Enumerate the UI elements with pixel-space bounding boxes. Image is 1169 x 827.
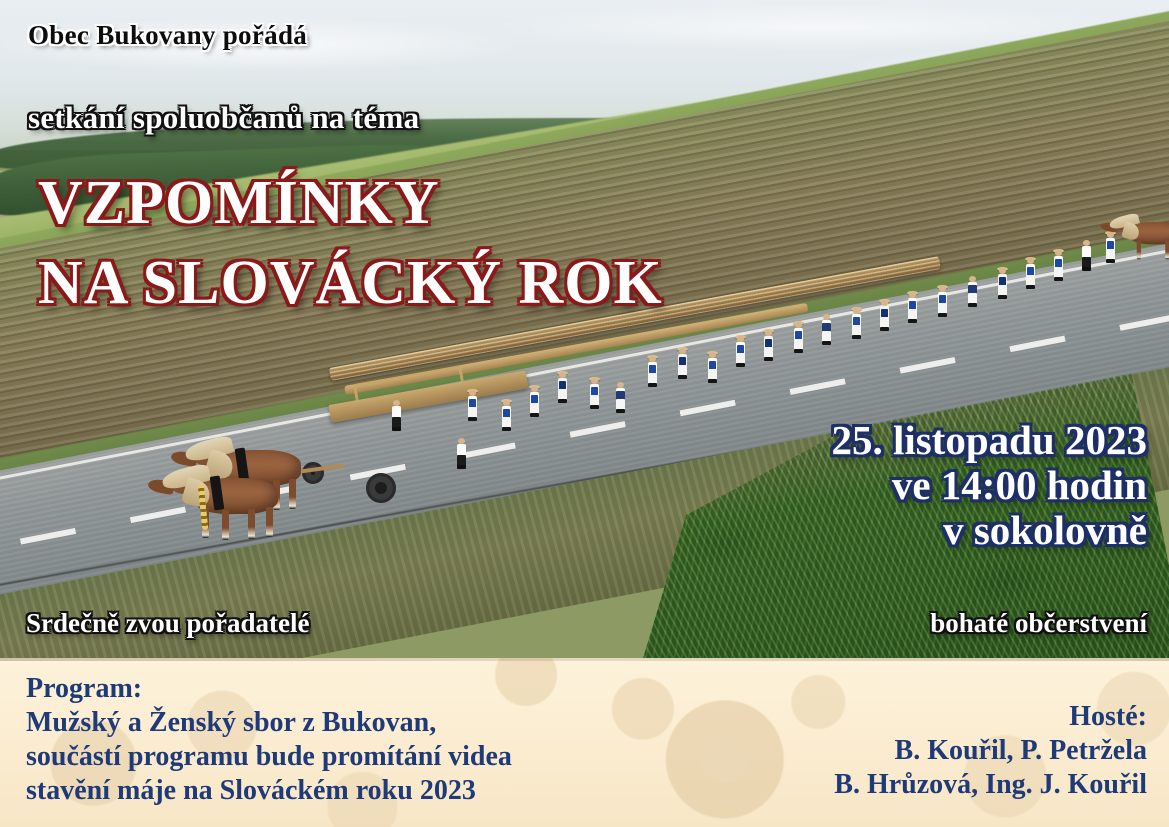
procession-walker [734,336,747,366]
event-venue: v sokolovně [831,508,1147,553]
main-title-line-2: NA SLOVÁCKÝ ROK [38,248,663,319]
horse-leg [1137,241,1141,260]
procession-walker [966,276,979,306]
guests-heading: Hosté: [834,700,1147,734]
procession-walker [850,308,863,338]
procession-walker [1024,258,1037,288]
procession-walker [1052,250,1065,280]
walker-boots [457,465,466,469]
procession-walker [706,352,719,382]
procession-walker [762,330,775,360]
walker-boots [938,313,947,317]
horse-leg [289,479,296,509]
walker-boots [880,327,889,331]
footer-refreshments: bohaté občerstvení [930,608,1147,639]
procession-walker [528,386,541,416]
info-panel: Program: Mužský a Ženský sbor z Bukovan,… [0,658,1169,827]
walker-boots [678,375,687,379]
background-photograph: Obec Bukovany pořádá setkání spoluobčanů… [0,0,1169,658]
walker-boots [502,427,511,431]
footer-invitation: Srdečně zvou pořadatelé [26,608,309,639]
procession-walker [792,322,805,352]
walker-boots [822,341,831,345]
procession-walker [906,292,919,322]
panel-top-divider [0,658,1169,661]
subtitle-headline: setkání spoluobčanů na téma [28,100,419,136]
main-title-line-1: VZPOMÍNKY [38,168,440,239]
event-details-block: 25. listopadu 2023 ve 14:00 hodin v soko… [831,418,1147,553]
horse-leg [222,510,229,540]
event-time: ve 14:00 hodin [831,463,1147,508]
program-block: Program: Mužský a Ženský sbor z Bukovan,… [26,672,512,809]
procession-walker [1080,240,1093,270]
walker-boots [1026,285,1035,289]
walker-boots [392,427,401,431]
procession-walker [1104,232,1117,262]
organizer-headline: Obec Bukovany pořádá [28,20,307,51]
walker-boots [616,409,625,413]
walker-boots [468,417,477,421]
program-line-3: stavění máje na Slováckém roku 2023 [26,774,512,808]
program-line-2: součástí programu bude promítání videa [26,740,512,774]
walker-boots [998,295,1007,299]
procession-walker [820,314,833,344]
procession-walker [500,400,513,430]
procession-walker [556,372,569,402]
procession-walker [878,300,891,330]
procession-walker [646,356,659,386]
walker-boots [968,303,977,307]
procession-walker [588,378,601,408]
walker-boots [558,399,567,403]
walker-boots [530,413,539,417]
cart-wheel-rear [366,473,396,503]
procession-walker [996,268,1009,298]
guests-line-2: B. Hrůzová, Ing. J. Kouřil [834,768,1147,802]
walker-boots [1106,259,1115,263]
walker-boots [648,383,657,387]
cart-wheel-front [302,462,324,484]
walker-boots [852,335,861,339]
procession-walker [455,438,468,468]
procession-walker [676,348,689,378]
guests-block: Hosté: B. Kouřil, P. Petržela B. Hrůzová… [834,700,1147,802]
horse-leg [1165,241,1169,260]
walker-boots [590,405,599,409]
event-date: 25. listopadu 2023 [831,418,1147,463]
maypole-procession [0,0,1169,658]
walker-boots [708,379,717,383]
walker-boots [736,363,745,367]
procession-walker [466,390,479,420]
program-heading: Program: [26,672,512,706]
walker-boots [794,349,803,353]
walker-boots [908,319,917,323]
program-line-1: Mužský a Ženský sbor z Bukovan, [26,706,512,740]
procession-walker [614,382,627,412]
guests-line-1: B. Kouřil, P. Petržela [834,734,1147,768]
horse-leg [266,507,273,537]
walker-boots [764,357,773,361]
horse-leg [248,509,255,539]
walker-boots [1054,277,1063,281]
procession-walker [390,400,403,430]
walker-boots [1082,267,1091,271]
poster-root: Obec Bukovany pořádá setkání spoluobčanů… [0,0,1169,827]
procession-walker [936,286,949,316]
